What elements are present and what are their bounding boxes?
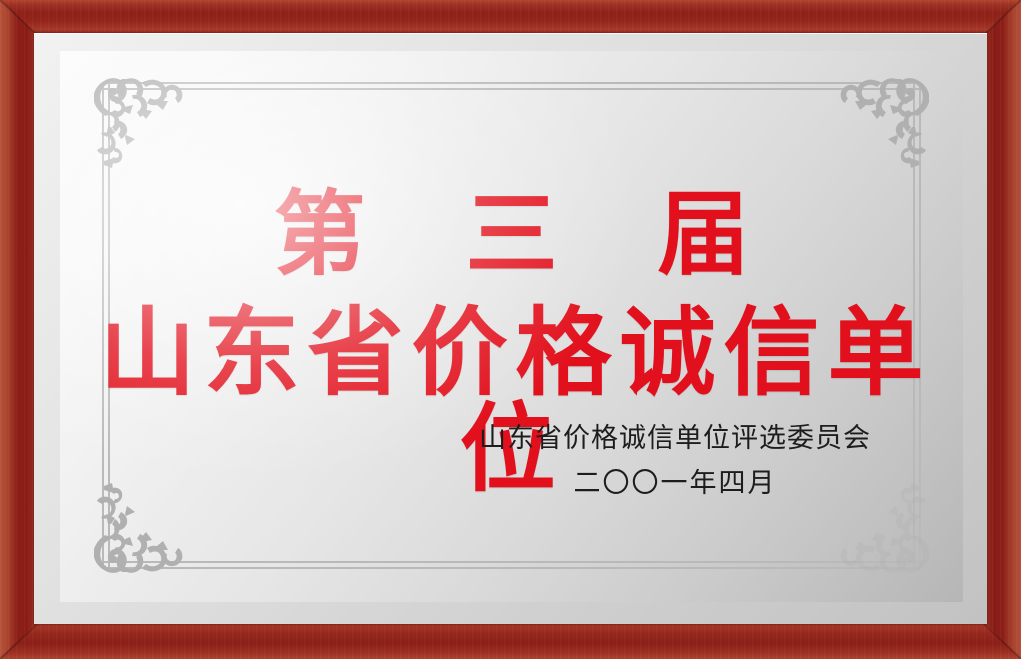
- issue-date: 二〇〇一年四月: [479, 468, 871, 500]
- corner-ornament-icon-bottom-right: [817, 466, 929, 578]
- frame-bevel-left: [0, 0, 36, 659]
- inner-rule-frame: [102, 82, 921, 569]
- rule-right-outer: [919, 82, 921, 569]
- corner-ornament-icon-bottom-left: [94, 466, 206, 578]
- rule-top-inner: [102, 88, 921, 90]
- rule-left-outer: [102, 82, 104, 569]
- plaque-mat: 第 三 届 山东省价格诚信单位 山东省价格诚信单位评选委员会 二〇〇一年四月: [34, 33, 987, 624]
- award-plaque: 第 三 届 山东省价格诚信单位 山东省价格诚信单位评选委员会 二〇〇一年四月: [0, 0, 1021, 659]
- rule-left-inner: [108, 82, 110, 569]
- award-title-line-1: 第 三 届: [60, 189, 963, 281]
- rule-bottom-outer: [102, 567, 921, 569]
- frame-bevel-top: [0, 0, 1021, 34]
- rule-bottom-inner: [102, 561, 921, 563]
- award-title: 第 三 届 山东省价格诚信单位: [60, 189, 963, 497]
- corner-ornament-icon-top-left: [94, 73, 206, 185]
- corner-ornament-icon-top-right: [817, 73, 929, 185]
- award-title-line-2: 山东省价格诚信单位: [60, 305, 963, 497]
- frame-bevel-bottom: [0, 623, 1021, 659]
- issuing-organization: 山东省价格诚信单位评选委员会: [479, 423, 871, 455]
- plaque-panel: 第 三 届 山东省价格诚信单位 山东省价格诚信单位评选委员会 二〇〇一年四月: [60, 51, 963, 602]
- rule-right-inner: [913, 82, 915, 569]
- rule-top-outer: [102, 82, 921, 84]
- frame-bevel-right: [985, 0, 1021, 659]
- signature-block: 山东省价格诚信单位评选委员会 二〇〇一年四月: [479, 423, 871, 500]
